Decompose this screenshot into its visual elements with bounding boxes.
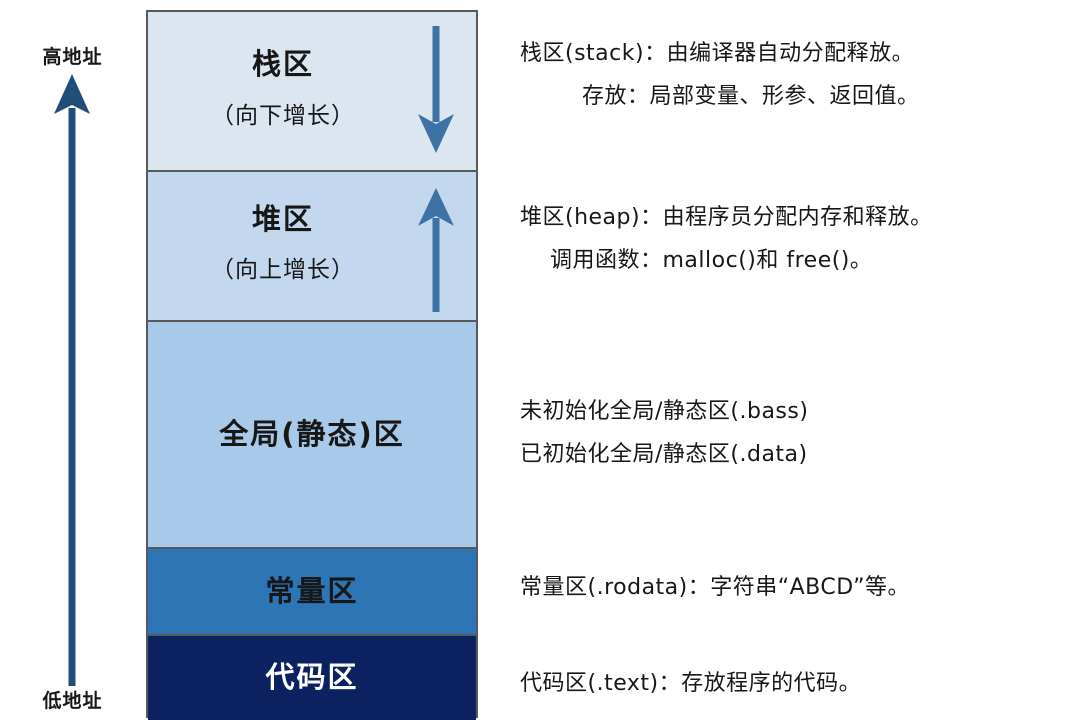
stack-subtitle: （向下增长） (211, 103, 355, 129)
description-rodata-line-1: 常量区(.rodata)：字符串“ABCD”等。 (520, 566, 1080, 609)
global-static-title: 全局(静态)区 (219, 418, 405, 451)
description-column: 栈区(stack)：由编译器自动分配释放。 存放：局部变量、形参、返回值。 堆区… (520, 0, 1080, 718)
heap-subtitle: （向上增长） (211, 257, 355, 283)
description-stack: 栈区(stack)：由编译器自动分配释放。 存放：局部变量、形参、返回值。 (520, 32, 1080, 118)
description-heap: 堆区(heap)：由程序员分配内存和释放。 调用函数：malloc()和 fre… (520, 196, 1080, 282)
description-text-segment: 代码区(.text)：存放程序的代码。 (520, 662, 1080, 705)
stack-label-group: 栈区 （向下增长） (148, 12, 418, 170)
low-address-label: 低地址 (0, 686, 145, 713)
high-address-label: 高地址 (0, 42, 145, 69)
description-stack-line-2: 存放：局部变量、形参、返回值。 (520, 75, 1080, 118)
description-global-static: 未初始化全局/静态区(.bass) 已初始化全局/静态区(.data) (520, 390, 1080, 476)
memory-block-stack[interactable]: 栈区 （向下增长） (148, 12, 476, 170)
memory-block-text[interactable]: 代码区 (148, 634, 476, 720)
rodata-title: 常量区 (265, 575, 358, 608)
description-global-line-2: 已初始化全局/静态区(.data) (520, 433, 1080, 476)
address-direction-arrow-icon (0, 72, 145, 686)
description-heap-line-2: 调用函数：malloc()和 free()。 (520, 239, 1080, 282)
memory-block-rodata[interactable]: 常量区 (148, 547, 476, 634)
arrow-down-icon (414, 26, 458, 154)
description-rodata: 常量区(.rodata)：字符串“ABCD”等。 (520, 566, 1080, 609)
description-stack-line-1: 栈区(stack)：由编译器自动分配释放。 (520, 32, 1080, 75)
description-text-line-1: 代码区(.text)：存放程序的代码。 (520, 662, 1080, 705)
stack-title: 栈区 (252, 48, 314, 81)
memory-block-global-static[interactable]: 全局(静态)区 (148, 320, 476, 547)
arrow-up-icon (414, 188, 458, 312)
description-global-line-1: 未初始化全局/静态区(.bass) (520, 390, 1080, 433)
address-axis: 高地址 低地址 (0, 0, 145, 718)
memory-layout-column: 栈区 （向下增长） 堆区 （向上增长） 全局(静态)区 常量区 代码区 (146, 10, 478, 718)
description-heap-line-1: 堆区(heap)：由程序员分配内存和释放。 (520, 196, 1080, 239)
text-segment-title: 代码区 (265, 661, 358, 694)
heap-label-group: 堆区 （向上增长） (148, 172, 418, 320)
heap-title: 堆区 (252, 203, 314, 236)
memory-block-heap[interactable]: 堆区 （向上增长） (148, 170, 476, 320)
